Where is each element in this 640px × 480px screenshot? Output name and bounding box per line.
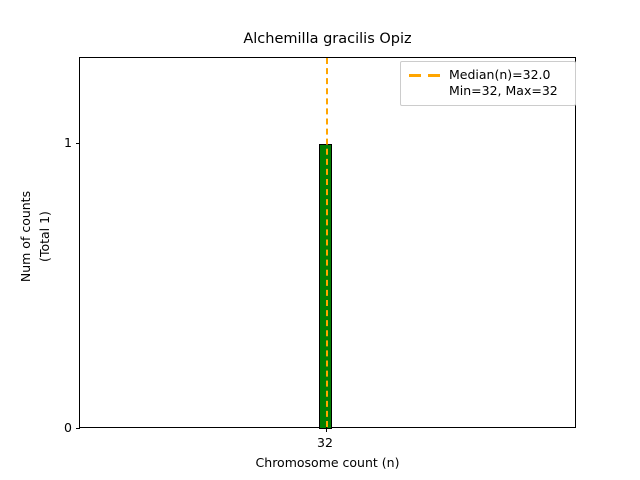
median-line xyxy=(326,58,328,427)
ytick-mark-0 xyxy=(76,428,81,429)
dashed-line-icon xyxy=(408,67,442,83)
x-axis-label: Chromosome count (n) xyxy=(79,455,576,470)
plot-area xyxy=(79,57,576,428)
legend-label-median: Median(n)=32.0 xyxy=(449,67,558,83)
legend-item-labels: Median(n)=32.0 Min=32, Max=32 xyxy=(449,67,558,99)
page-title: Alchemilla gracilis Opiz xyxy=(79,30,576,48)
legend: Median(n)=32.0 Min=32, Max=32 xyxy=(400,61,576,106)
ytick-label-0: 0 xyxy=(44,421,72,434)
xtick-label-32: 32 xyxy=(295,436,355,449)
chart-figure: Alchemilla gracilis Opiz 0 1 32 Chromoso… xyxy=(0,0,640,480)
y-axis-label: Num of counts xyxy=(18,51,33,422)
y-axis-label-group: Num of counts (Total 1) xyxy=(0,57,46,428)
xtick-mark-32 xyxy=(326,427,327,432)
ytick-mark-1 xyxy=(76,143,81,144)
legend-label-minmax: Min=32, Max=32 xyxy=(449,83,558,99)
legend-item-median: Median(n)=32.0 Min=32, Max=32 xyxy=(408,67,568,99)
y-axis-label-total: (Total 1) xyxy=(37,51,52,422)
